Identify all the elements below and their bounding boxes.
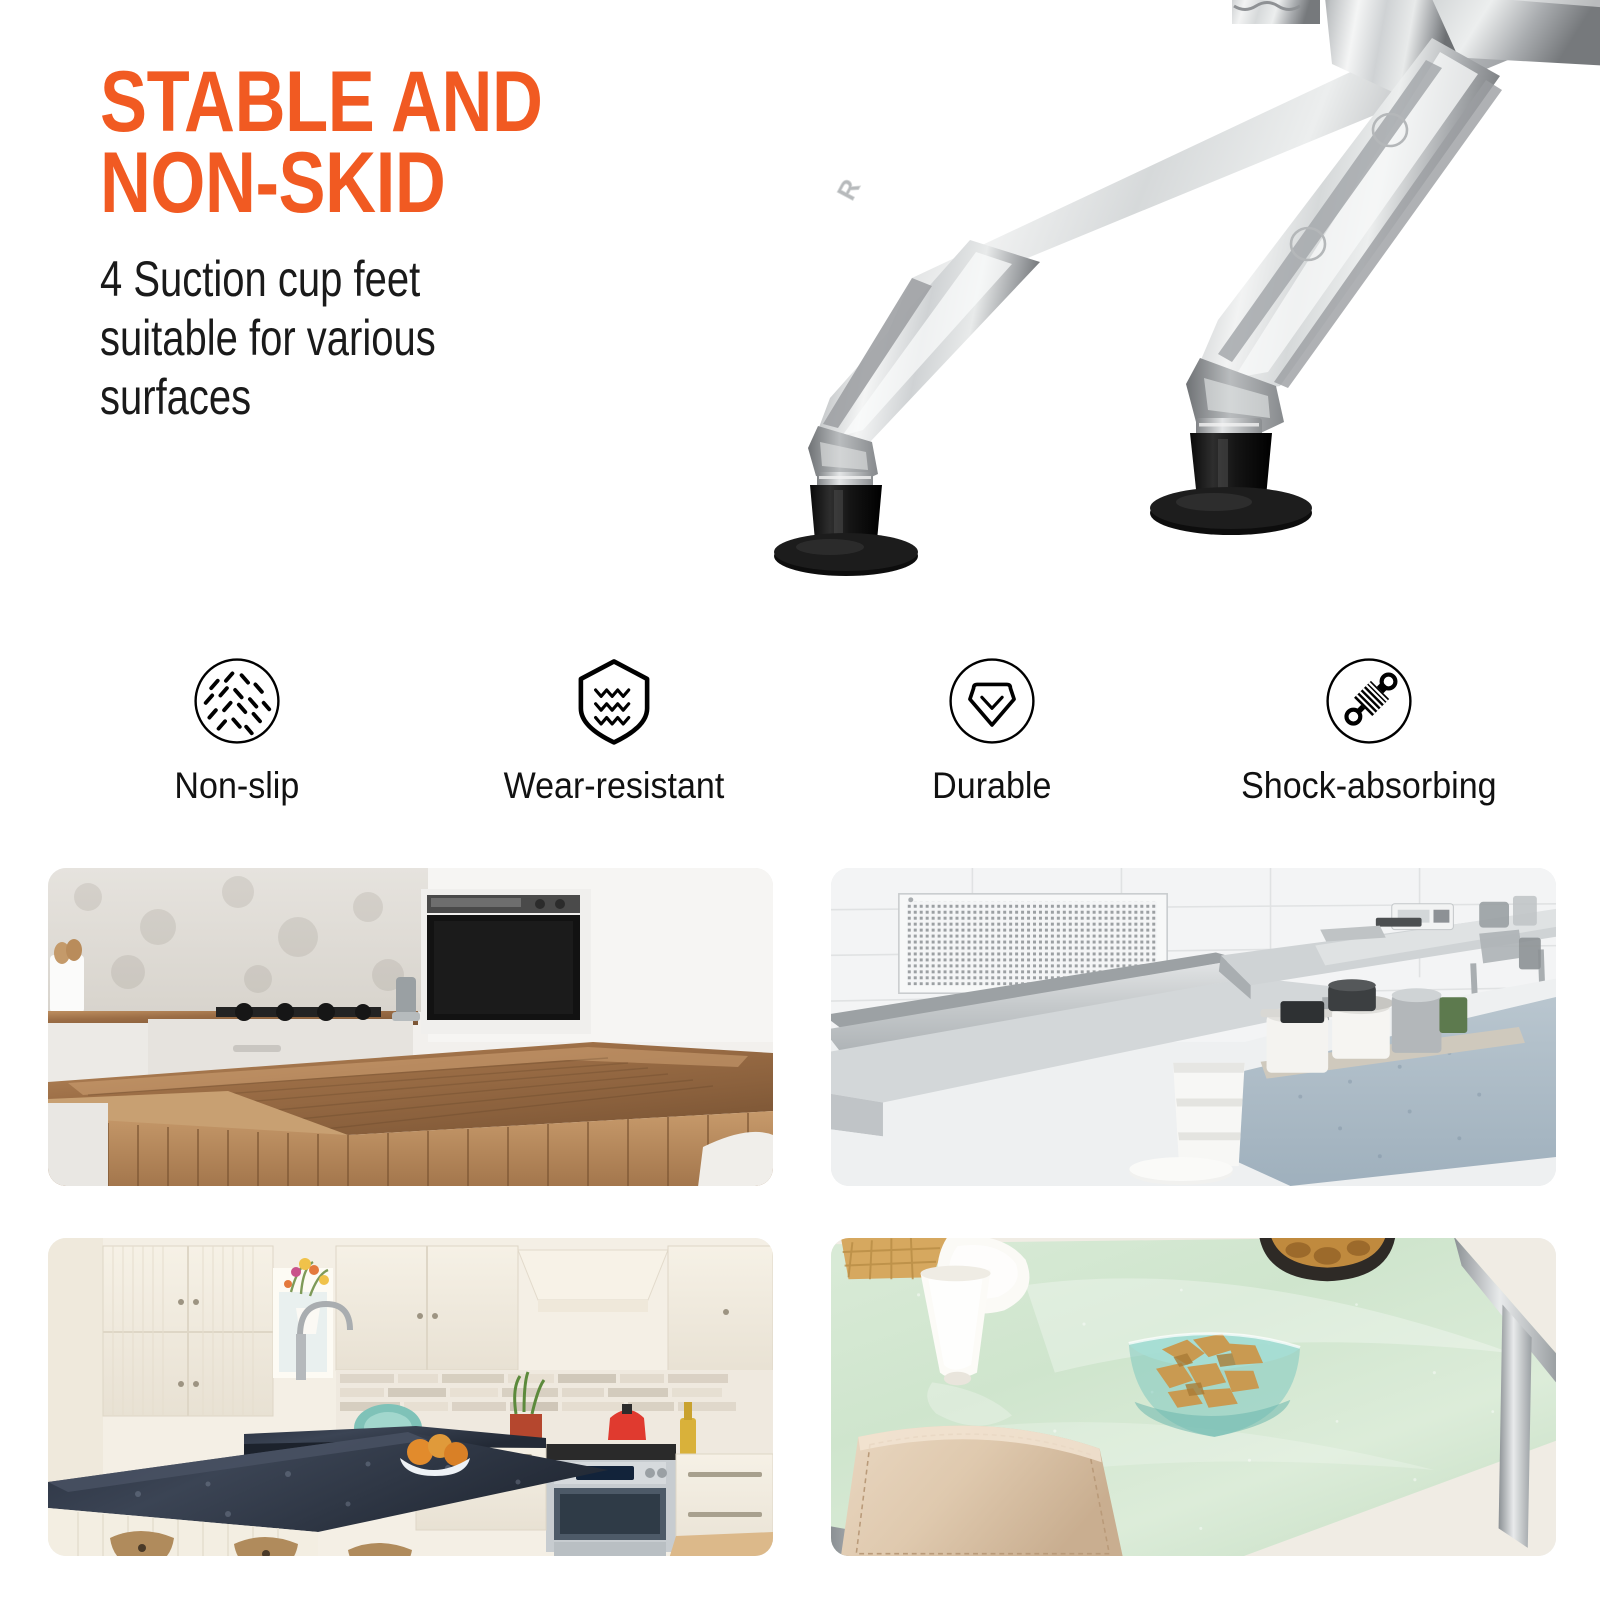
photo-modern-kitchen-wood-island [48, 868, 773, 1186]
marketing-infographic-page: STABLE AND NON-SKID 4 Suction cup feet s… [0, 0, 1600, 1600]
feature-non-slip: Non-slip [48, 655, 426, 807]
feature-label: Shock-absorbing [1242, 765, 1497, 807]
right-leg [1150, 0, 1600, 535]
leg-marking-letter: R [831, 174, 866, 205]
photo-traditional-kitchen-granite [48, 1238, 773, 1556]
feature-label: Durable [932, 765, 1051, 807]
page-subtitle: 4 Suction cup feet suitable for various … [100, 250, 548, 427]
photo-frosted-glass-table [831, 1238, 1556, 1556]
feature-badges-row: Non-slip Wear-resistant Durable [48, 655, 1558, 825]
feature-label: Wear-resistant [504, 765, 725, 807]
feature-durable: Durable [803, 655, 1181, 807]
application-scene-photo-grid [48, 868, 1556, 1556]
durable-diamond-icon [946, 655, 1038, 747]
non-slip-tread-icon [191, 655, 283, 747]
headline-block: STABLE AND NON-SKID 4 Suction cup feet s… [100, 62, 660, 427]
feature-label: Non-slip [174, 765, 299, 807]
shock-absorbing-spring-icon [1323, 655, 1415, 747]
wear-resistant-shield-icon [568, 655, 660, 747]
feature-wear-resistant: Wear-resistant [426, 655, 804, 807]
hero-product-image: R [620, 0, 1600, 630]
leather-chair [841, 1426, 1123, 1556]
threaded-bolt [1232, 0, 1320, 24]
page-title: STABLE AND NON-SKID [100, 62, 559, 224]
feature-shock-absorbing: Shock-absorbing [1181, 655, 1559, 807]
photo-commercial-kitchen-stainless [831, 868, 1556, 1186]
